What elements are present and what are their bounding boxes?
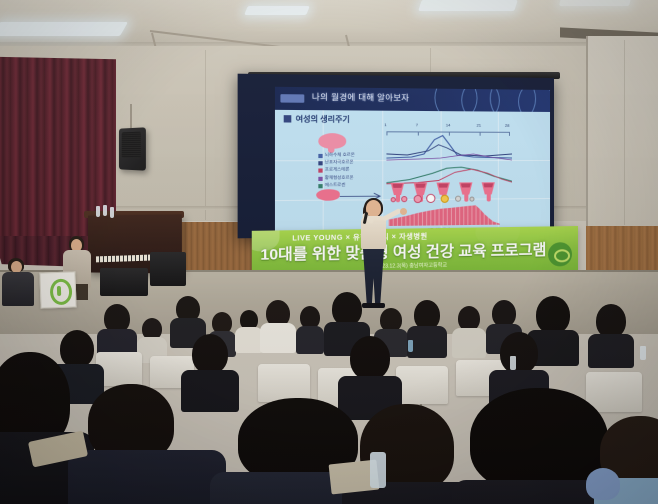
water-bottle[interactable] <box>510 356 516 370</box>
corpus-luteum-icon <box>441 195 449 203</box>
slide-title: 나의 월경에 대해 알아보자 <box>312 91 409 103</box>
presenter-trousers <box>363 249 384 305</box>
legend-swatch <box>318 177 322 181</box>
banner-mascot-icon <box>548 242 572 266</box>
staff-jacket <box>2 272 34 306</box>
water-bottle <box>96 206 100 217</box>
axis-tick-label: 1 <box>384 122 386 127</box>
legend-swatch <box>318 161 322 165</box>
speaker-grill <box>122 132 141 159</box>
poster-logo-icon <box>50 279 73 306</box>
presenter-shoes <box>362 303 385 308</box>
pituitary-illustration <box>318 133 346 149</box>
axis-tick-label: 7 <box>416 122 418 127</box>
water-bottle[interactable] <box>408 340 413 352</box>
slide-bullet-icon <box>284 115 292 122</box>
hormone-curves <box>386 133 512 162</box>
water-bottle[interactable] <box>370 452 386 488</box>
chair[interactable] <box>396 366 448 404</box>
legend-swatch <box>318 154 322 158</box>
ceiling-light <box>418 0 518 11</box>
axis-tick-label: 28 <box>505 123 509 128</box>
axis-tick-label: 14 <box>446 122 451 127</box>
ceiling-light <box>244 6 310 15</box>
water-bottle <box>110 207 114 218</box>
uterus-illustration <box>480 182 497 202</box>
legend-label: 난포자극호르몬 <box>325 159 354 165</box>
right-wall <box>586 36 658 226</box>
speaker-mount <box>130 104 132 130</box>
legend-label: 에스트로겐 <box>325 182 346 188</box>
ceiling-light <box>0 22 128 36</box>
slide-header: 나의 월경에 대해 알아보자 <box>275 87 550 112</box>
pa-speaker <box>150 252 186 286</box>
legend-label: 프로게스테론 <box>325 166 350 172</box>
legend-swatch <box>318 168 322 172</box>
legend-label: 뇌하수체 호르몬 <box>325 152 355 158</box>
water-bottle <box>103 205 107 216</box>
follicle-icon <box>414 195 422 203</box>
slide-logo-chip <box>280 94 304 103</box>
legend-swatch <box>318 184 322 188</box>
legend-label: 황체형성호르몬 <box>325 175 354 181</box>
program-poster <box>39 271 76 308</box>
pa-speaker <box>100 268 148 296</box>
presenter-raised-arm <box>382 208 402 222</box>
water-bottle[interactable] <box>640 346 646 360</box>
presenter <box>350 200 402 308</box>
follicle-mature-icon <box>426 194 435 203</box>
ovary-illustration <box>316 189 340 201</box>
seated-staff <box>2 258 36 306</box>
foreground-student <box>74 384 224 504</box>
blue-bag <box>586 468 620 500</box>
presenter-hand <box>400 208 407 215</box>
corpus-albicans-icon <box>455 196 461 202</box>
follicle-icon <box>401 196 407 202</box>
wall-speaker-icon <box>119 127 146 170</box>
chair[interactable] <box>258 364 310 402</box>
ceiling-light <box>559 0 631 6</box>
auditorium-photo: 나의 월경에 대해 알아보자 여성의 생리주기 뇌하수체 호르몬 난포자극호르몬… <box>0 0 658 504</box>
axis-tick-label: 21 <box>477 123 482 128</box>
banner-title: 10대를 위한 맞춤형 여성 건강 교육 프로그램 <box>260 239 546 265</box>
corpus-albicans-icon <box>469 197 474 202</box>
slide: 나의 월경에 대해 알아보자 여성의 생리주기 뇌하수체 호르몬 난포자극호르몬… <box>275 87 550 238</box>
